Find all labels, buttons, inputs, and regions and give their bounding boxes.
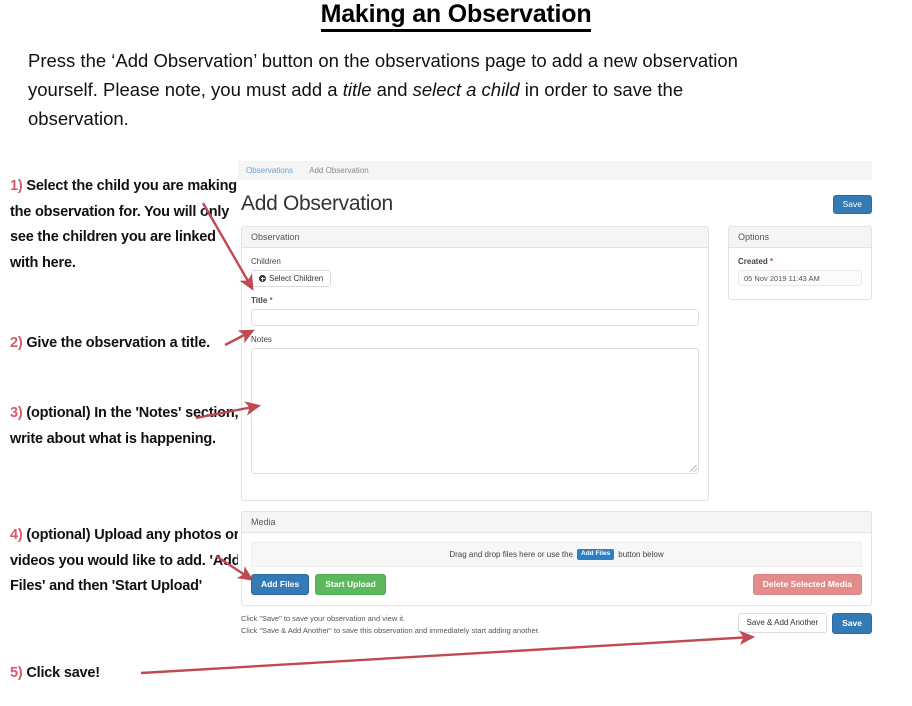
annotation-step-4-number: 4)	[10, 527, 23, 543]
dropzone-add-files-badge: Add Files	[577, 549, 614, 560]
intro-line-1: Press the ‘Add Observation’ button on th…	[28, 50, 637, 71]
notes-label: Notes	[251, 335, 699, 344]
title-required-mark: *	[270, 296, 273, 305]
observation-panel-header: Observation	[242, 227, 708, 248]
title-label: Title *	[251, 296, 699, 305]
breadcrumb: Observations Add Observation	[238, 161, 872, 180]
observation-panel-body: Children Select Children Title * Notes	[242, 248, 708, 483]
annotation-step-1: 1) Select the child you are making the o…	[10, 174, 242, 276]
select-children-label: Select Children	[269, 274, 323, 283]
start-upload-button[interactable]: Start Upload	[315, 574, 386, 595]
annotation-step-2-text: Give the observation a title.	[26, 335, 210, 351]
title-label-text: Title	[251, 296, 267, 305]
intro-emphasis-title: title	[343, 79, 372, 100]
media-button-row: Add Files Start Upload Delete Selected M…	[251, 574, 862, 595]
form-footer: Click "Save" to save your observation an…	[241, 613, 872, 647]
annotation-step-2-number: 2)	[10, 335, 23, 351]
intro-line-2b: and	[371, 79, 412, 100]
footer-button-row: Save & Add Another Save	[738, 613, 872, 634]
media-dropzone[interactable]: Drag and drop files here or use the Add …	[251, 542, 862, 567]
media-panel-header: Media	[242, 512, 871, 533]
annotation-step-5-text: Click save!	[26, 665, 100, 681]
annotation-step-4-text: (optional) Upload any photos or videos y…	[10, 527, 240, 594]
created-label: Created *	[738, 257, 862, 266]
annotation-step-1-number: 1)	[10, 178, 23, 194]
media-panel: Media Drag and drop files here or use th…	[241, 511, 872, 606]
media-panel-body: Drag and drop files here or use the Add …	[242, 533, 871, 604]
intro-emphasis-select-child: select a child	[413, 79, 520, 100]
add-files-button[interactable]: Add Files	[251, 574, 309, 595]
dropzone-text-before: Drag and drop files here or use the	[449, 550, 573, 559]
annotation-step-2: 2) Give the observation a title.	[10, 331, 242, 357]
observation-panel: Observation Children Select Children Tit…	[241, 226, 709, 501]
created-required-mark: *	[770, 257, 773, 266]
annotation-step-3: 3) (optional) In the 'Notes' section, wr…	[10, 401, 242, 452]
dropzone-text-after: button below	[618, 550, 663, 559]
app-page-title: Add Observation	[241, 192, 393, 216]
save-button-bottom[interactable]: Save	[832, 613, 872, 634]
created-date-input[interactable]: 05 Nov 2019 11:43 AM	[738, 270, 862, 286]
annotation-step-5: 5) Click save!	[10, 661, 242, 687]
save-and-add-another-button[interactable]: Save & Add Another	[738, 613, 828, 633]
options-panel-header: Options	[729, 227, 871, 248]
delete-selected-media-button[interactable]: Delete Selected Media	[753, 574, 862, 595]
page-title: Making an Observation	[0, 0, 912, 29]
options-panel-body: Created * 05 Nov 2019 11:43 AM	[729, 248, 871, 295]
select-children-button[interactable]: Select Children	[251, 270, 331, 287]
notes-textarea[interactable]	[251, 348, 699, 474]
intro-line-2c: in order to	[520, 79, 608, 100]
app-screenshot: Observations Add Observation Add Observa…	[238, 158, 874, 648]
save-button-top[interactable]: Save	[833, 195, 872, 214]
annotation-step-3-number: 3)	[10, 405, 23, 421]
plus-circle-icon	[259, 275, 266, 282]
children-label: Children	[251, 257, 699, 266]
breadcrumb-link-observations[interactable]: Observations	[246, 166, 293, 175]
annotation-step-4: 4) (optional) Upload any photos or video…	[10, 523, 242, 600]
annotation-step-1-text: Select the child you are making the obse…	[10, 178, 237, 271]
page-title-text: Making an Observation	[321, 0, 592, 32]
intro-paragraph: Press the ‘Add Observation’ button on th…	[28, 46, 788, 133]
resize-handle-icon[interactable]	[690, 465, 697, 472]
options-panel: Options Created * 05 Nov 2019 11:43 AM	[728, 226, 872, 300]
annotation-step-3-text: (optional) In the 'Notes' section, write…	[10, 405, 238, 447]
title-input[interactable]	[251, 309, 699, 326]
breadcrumb-current-add-observation: Add Observation	[309, 166, 369, 175]
created-label-text: Created	[738, 257, 768, 266]
annotation-step-5-number: 5)	[10, 665, 23, 681]
